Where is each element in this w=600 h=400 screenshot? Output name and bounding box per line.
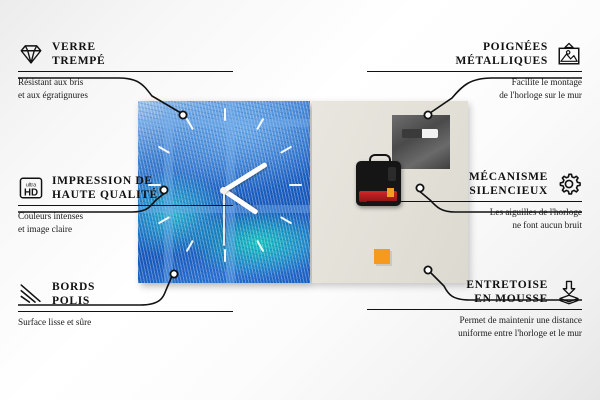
metal-hanger-plate [392, 115, 450, 169]
callout-title: MÉCANISME SILENCIEUX [469, 170, 548, 198]
callout-mecanisme-silencieux[interactable]: MÉCANISME SILENCIEUX Les aiguilles de l'… [367, 170, 582, 231]
hatch-lines-icon [18, 281, 44, 307]
callout-entretoise-en-mousse[interactable]: ENTRETOISE EN MOUSSE Permet de maintenir… [367, 278, 582, 339]
callout-header: BORDS POLIS [18, 280, 233, 308]
callout-verre-trempe[interactable]: VERRE TREMPÉ Résistant aux bris et aux é… [18, 40, 233, 101]
hour-tick [186, 240, 194, 252]
diamond-icon [18, 41, 44, 67]
foam-spacer-arrow-icon [556, 279, 582, 305]
picture-frame-hanging-icon [556, 41, 582, 67]
hour-tick [224, 108, 226, 121]
callout-header: ENTRETOISE EN MOUSSE [367, 278, 582, 306]
ultra-hd-icon: ultra HD [18, 175, 44, 201]
callout-title: VERRE TREMPÉ [52, 40, 105, 68]
callout-description: Surface lisse et sûre [18, 316, 233, 328]
callout-header: VERRE TREMPÉ [18, 40, 233, 68]
callout-rule [18, 311, 233, 312]
callout-description: Facilite le montage de l'horloge sur le … [367, 76, 582, 101]
callout-rule [367, 71, 582, 72]
callout-title: IMPRESSION DE HAUTE QUALITÉ [52, 174, 158, 202]
callout-header: ultra HD IMPRESSION DE HAUTE QUALITÉ [18, 174, 233, 202]
callout-rule [367, 201, 582, 202]
hour-tick [224, 249, 226, 262]
callout-description: Résistant aux bris et aux égratignures [18, 76, 233, 101]
hour-tick [256, 240, 264, 252]
callout-header: MÉCANISME SILENCIEUX [367, 170, 582, 198]
callout-poignees-metalliques[interactable]: POIGNÉES MÉTALLIQUES Facilite le montage… [367, 40, 582, 101]
callout-description: Couleurs intenses et image claire [18, 210, 233, 235]
callout-impression-haute-qualite[interactable]: ultra HD IMPRESSION DE HAUTE QUALITÉ Cou… [18, 174, 233, 235]
hanger-slot [402, 129, 438, 138]
foam-spacer [374, 249, 390, 264]
infographic-canvas: VERRE TREMPÉ Résistant aux bris et aux é… [0, 0, 600, 400]
movement-bail [369, 154, 391, 165]
callout-rule [18, 71, 233, 72]
callout-description: Les aiguilles de l'horloge ne font aucun… [367, 206, 582, 231]
hour-tick [289, 184, 302, 186]
callout-rule [367, 309, 582, 310]
ultra-hd-large-text: HD [24, 187, 38, 198]
gear-icon [556, 171, 582, 197]
callout-title: ENTRETOISE EN MOUSSE [466, 278, 548, 306]
hour-tick [280, 146, 292, 154]
hour-tick [280, 216, 292, 224]
callout-bords-polis[interactable]: BORDS POLIS Surface lisse et sûre [18, 280, 233, 329]
callout-header: POIGNÉES MÉTALLIQUES [367, 40, 582, 68]
callout-title: POIGNÉES MÉTALLIQUES [456, 40, 548, 68]
callout-description: Permet de maintenir une distance uniform… [367, 314, 582, 339]
callout-rule [18, 205, 233, 206]
callout-title: BORDS POLIS [52, 280, 95, 308]
